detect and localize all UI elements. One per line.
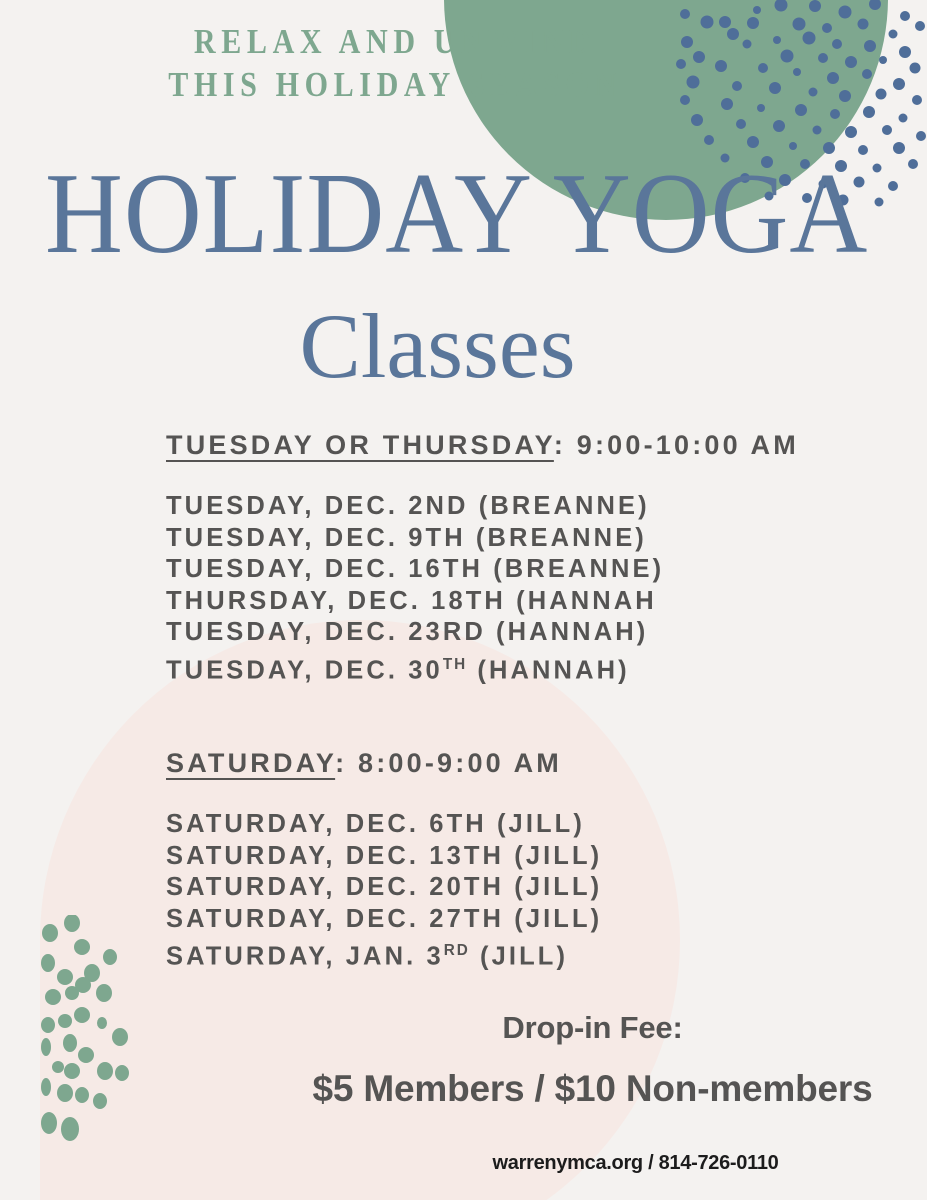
flyer-canvas: RELAX AND UNWIND THIS HOLIDAY SEASON HOL… bbox=[0, 0, 927, 1200]
weekday-schedule-heading: TUESDAY OR THURSDAY: 9:00-10:00 AM bbox=[166, 430, 799, 461]
page-subtitle: Classes bbox=[0, 300, 875, 392]
fee-detail: $5 Members / $10 Non-members bbox=[129, 1068, 927, 1110]
saturday-heading-label: SATURDAY bbox=[166, 748, 335, 778]
weekday-session-list: TUESDAY, DEC. 2ND (BREANNE)TUESDAY, DEC.… bbox=[166, 491, 799, 687]
saturday-schedule-block: SATURDAY: 8:00-9:00 AM SATURDAY, DEC. 6T… bbox=[166, 748, 602, 973]
session-item: TUESDAY, DEC. 2ND (BREANNE) bbox=[166, 491, 799, 523]
session-item: SATURDAY, DEC. 27TH (JILL) bbox=[166, 904, 602, 936]
session-item: TUESDAY, DEC. 16TH (BREANNE) bbox=[166, 554, 799, 586]
session-item: SATURDAY, JAN. 3RD (JILL) bbox=[166, 935, 602, 973]
weekday-schedule-block: TUESDAY OR THURSDAY: 9:00-10:00 AM TUESD… bbox=[166, 430, 799, 687]
session-item: SATURDAY, DEC. 6TH (JILL) bbox=[166, 809, 602, 841]
session-item: TUESDAY, DEC. 30TH (HANNAH) bbox=[166, 649, 799, 687]
session-item: THURSDAY, DEC. 18TH (HANNAH bbox=[166, 586, 799, 618]
weekday-heading-label: TUESDAY OR THURSDAY bbox=[166, 430, 554, 460]
session-item: SATURDAY, DEC. 20TH (JILL) bbox=[166, 872, 602, 904]
session-item: TUESDAY, DEC. 23RD (HANNAH) bbox=[166, 617, 799, 649]
page-title: HOLIDAY YOGA bbox=[45, 156, 868, 272]
ordinal-suffix: RD bbox=[444, 942, 470, 959]
fee-title: Drop-in Fee: bbox=[129, 1010, 927, 1046]
session-item: SATURDAY, DEC. 13TH (JILL) bbox=[166, 841, 602, 873]
tagline: RELAX AND UNWIND THIS HOLIDAY SEASON bbox=[55, 20, 734, 106]
saturday-schedule-heading: SATURDAY: 8:00-9:00 AM bbox=[166, 748, 602, 779]
session-item: TUESDAY, DEC. 9TH (BREANNE) bbox=[166, 523, 799, 555]
saturday-heading-time: : 8:00-9:00 AM bbox=[335, 748, 562, 778]
weekday-heading-time: : 9:00-10:00 AM bbox=[554, 430, 799, 460]
saturday-session-list: SATURDAY, DEC. 6TH (JILL)SATURDAY, DEC. … bbox=[166, 809, 602, 973]
contact-info: warrenymca.org / 814-726-0110 bbox=[172, 1152, 927, 1175]
ordinal-suffix: TH bbox=[443, 656, 467, 673]
